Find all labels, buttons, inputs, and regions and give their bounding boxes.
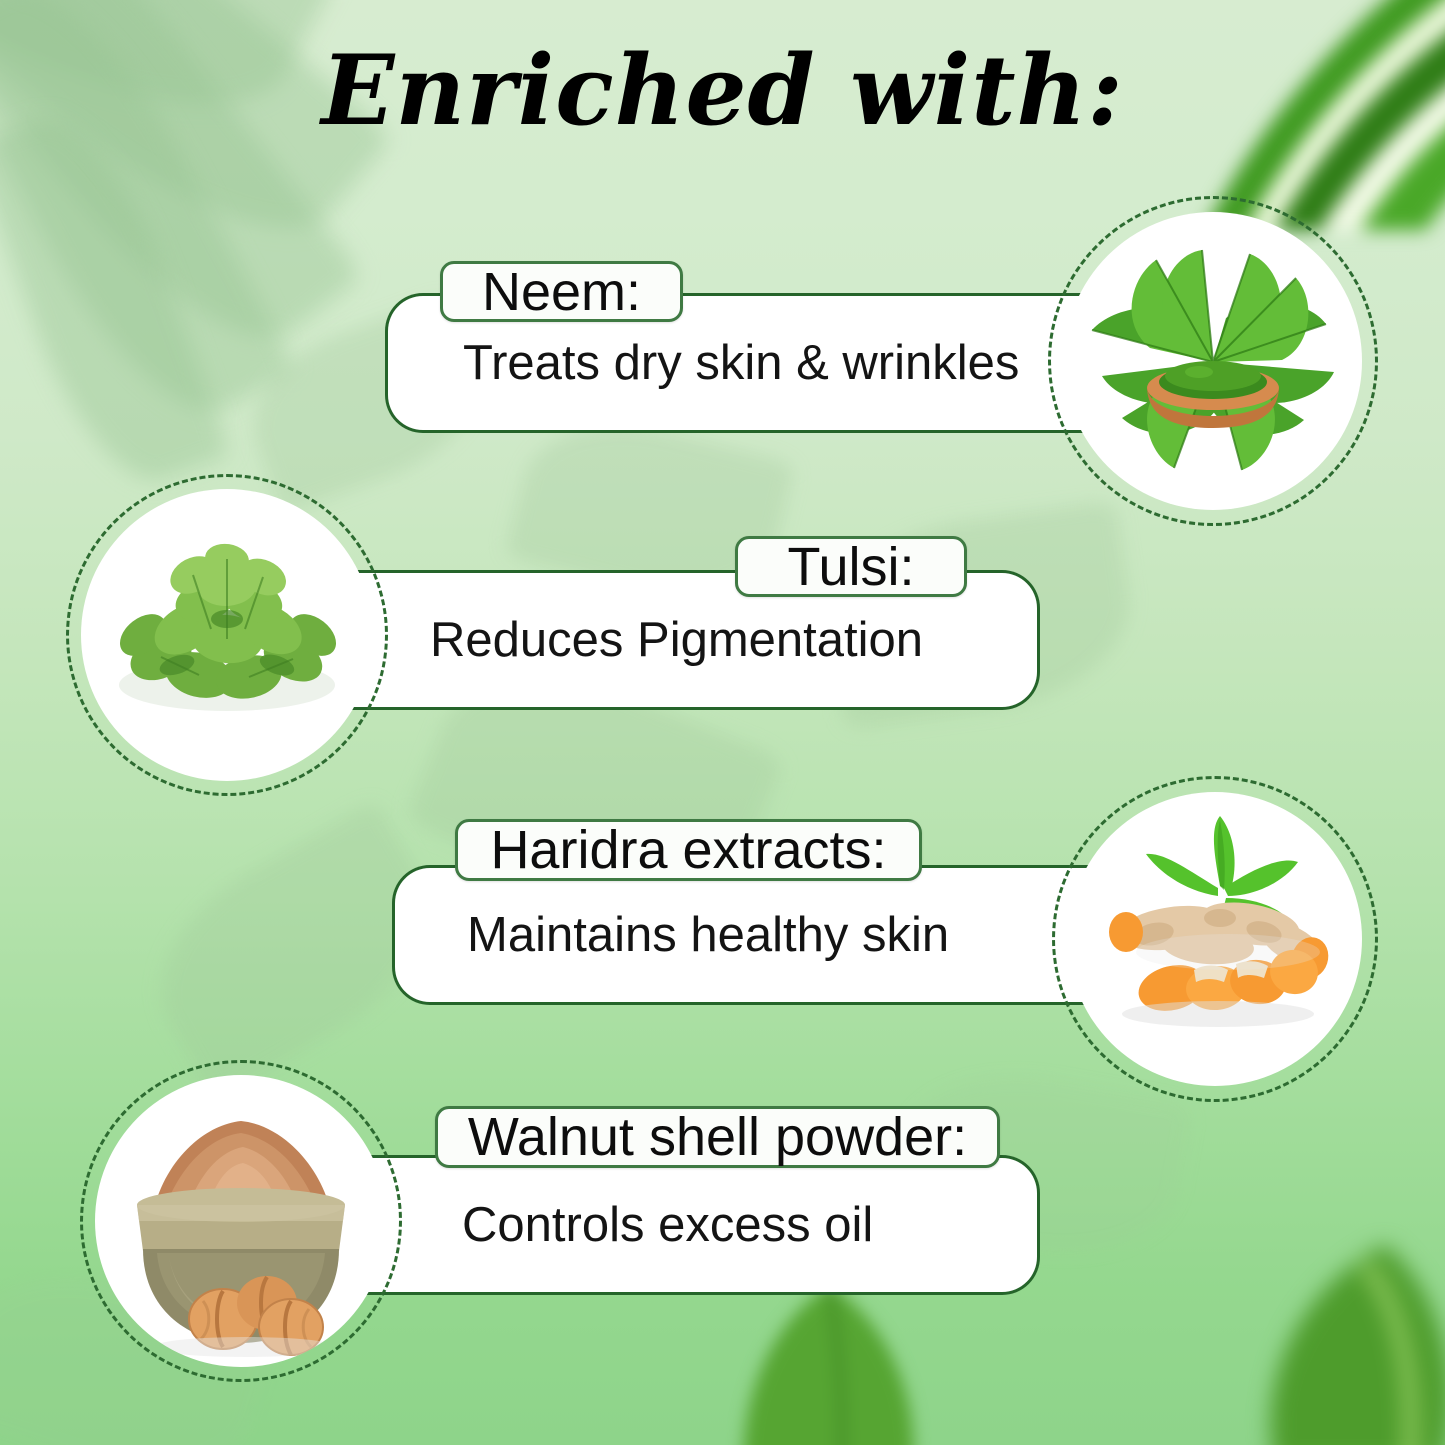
ingredient-card-haridra: Maintains healthy skin <box>392 865 1112 1005</box>
neem-leaves-illustration <box>1064 212 1362 510</box>
turmeric-root-illustration <box>1068 792 1362 1086</box>
neem-photo <box>1064 212 1362 510</box>
tulsi-leaves-illustration <box>81 489 373 781</box>
ingredient-benefit-haridra: Maintains healthy skin <box>467 911 949 960</box>
turmeric-photo <box>1068 792 1362 1086</box>
leaf-decoration-bottom <box>640 1275 1000 1445</box>
ingredient-label-neem: Neem: <box>440 261 683 322</box>
ingredient-label-haridra: Haridra extracts: <box>455 819 922 881</box>
ingredient-card-walnut: Controls excess oil <box>342 1155 1040 1295</box>
ingredient-label-tulsi: Tulsi: <box>735 536 967 597</box>
ingredient-name-neem: Neem: <box>482 265 641 319</box>
ingredient-image-walnut <box>80 1060 402 1382</box>
walnut-shell-powder-illustration <box>95 1075 387 1367</box>
palm-frond-shadow <box>0 98 231 503</box>
leaf-decoration-bottom-right <box>1215 1225 1445 1445</box>
ingredient-name-walnut: Walnut shell powder: <box>468 1110 967 1164</box>
ingredient-benefit-tulsi: Reduces Pigmentation <box>430 616 923 665</box>
tulsi-photo <box>81 489 373 781</box>
ingredient-name-tulsi: Tulsi: <box>787 540 914 594</box>
ingredient-image-tulsi <box>66 474 388 796</box>
ingredient-image-haridra <box>1052 776 1378 1102</box>
ingredient-name-haridra: Haridra extracts: <box>490 823 886 877</box>
ingredient-benefit-neem: Treats dry skin & wrinkles <box>463 339 1019 388</box>
ingredient-image-neem <box>1048 196 1378 526</box>
walnut-powder-photo <box>95 1075 387 1367</box>
page-title: Enriched with: <box>0 34 1445 147</box>
ingredient-label-walnut: Walnut shell powder: <box>435 1106 1000 1168</box>
ingredient-benefit-walnut: Controls excess oil <box>462 1201 873 1250</box>
infographic-canvas: Enriched with: Treats dry skin & wrinkle… <box>0 0 1445 1445</box>
